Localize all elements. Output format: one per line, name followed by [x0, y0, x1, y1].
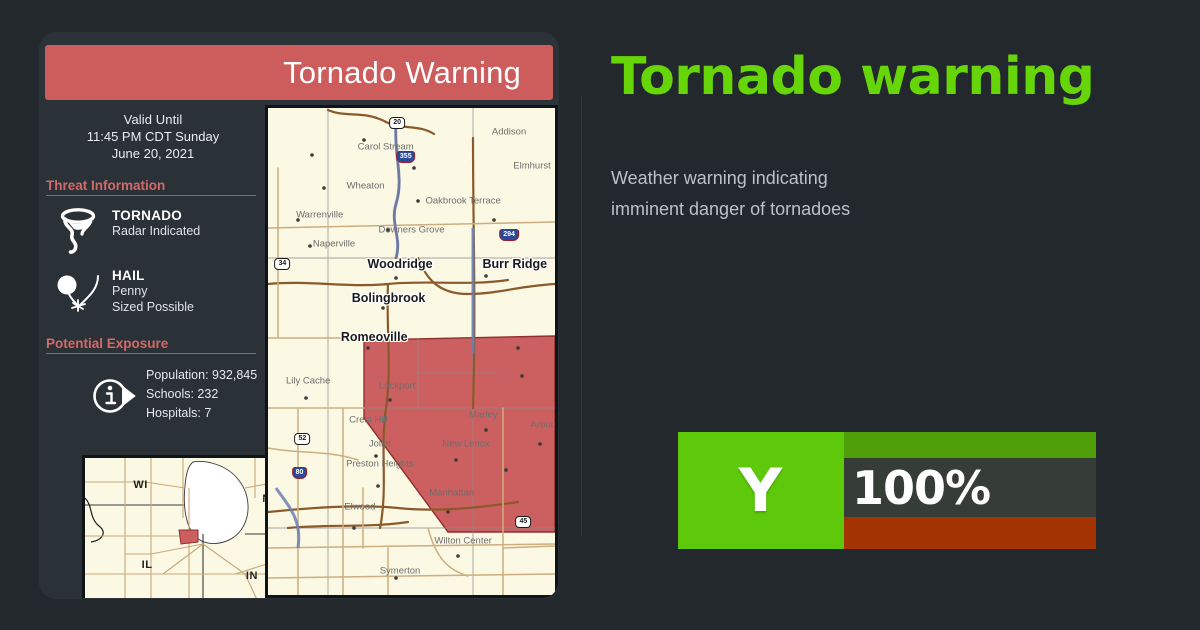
- threat-row-hail: HAIL Penny Sized Possible: [40, 264, 266, 316]
- card-body: Valid Until 11:45 PM CDT Sunday June 20,…: [40, 105, 558, 598]
- card-header: Tornado Warning: [45, 45, 553, 100]
- badge-bars: 100%: [844, 432, 1096, 549]
- hail-icon: [50, 264, 106, 318]
- route-shield-icon: 355: [396, 151, 416, 163]
- map-place-label: Addison: [492, 127, 526, 138]
- map-place-label: Arbury H: [531, 419, 555, 430]
- map-place-label: Wheaton: [347, 180, 385, 191]
- map-place-label: Preston Heights: [346, 458, 414, 469]
- threat-title-hail: HAIL: [112, 268, 266, 283]
- screenshot-root: Tornado Warning Valid Until 11:45 PM CDT…: [0, 0, 1200, 630]
- exposure-population: Population: 932,845: [146, 366, 266, 385]
- page-title: Tornado warning: [611, 48, 1171, 106]
- threat-detail-hail-line2: Sized Possible: [112, 300, 266, 315]
- threat-detail-tornado: Radar Indicated: [112, 224, 266, 239]
- route-shield-icon: 20: [389, 117, 405, 129]
- map-place-label: Symerton: [380, 565, 421, 576]
- inset-state-label-wi: WI: [133, 479, 147, 491]
- map-place-label: Burr Ridge: [483, 257, 548, 271]
- threat-text-hail: HAIL Penny Sized Possible: [112, 264, 266, 315]
- card-header-title: Tornado Warning: [283, 55, 553, 91]
- exposure-text: Population: 932,845 Schools: 232 Hospita…: [146, 364, 266, 423]
- panel-divider: [581, 96, 582, 536]
- description-line-1: Weather warning indicating: [611, 163, 1131, 194]
- exposure-schools: Schools: 232: [146, 385, 266, 404]
- badge-letter-block: Y: [678, 432, 844, 549]
- valid-until-time: 11:45 PM CDT Sunday: [40, 128, 266, 145]
- map-place-label: Warrenville: [296, 210, 343, 221]
- score-badge: Y 100%: [678, 432, 1096, 549]
- map-place-label: Naperville: [313, 239, 355, 250]
- tornado-icon: [50, 204, 106, 258]
- valid-until-block: Valid Until 11:45 PM CDT Sunday June 20,…: [40, 105, 266, 162]
- info-bubble-icon: [88, 370, 140, 422]
- map-place-label: Joliet: [369, 439, 391, 450]
- badge-bar-top: [844, 432, 1096, 458]
- page-description: Weather warning indicating imminent dang…: [611, 163, 1131, 225]
- inset-state-label-il: IL: [142, 559, 153, 571]
- main-map[interactable]: Carol Stream Addison Elmw Elmhurst Wheat…: [268, 108, 555, 595]
- map-place-label: Romeoville: [341, 330, 408, 344]
- potential-exposure-heading: Potential Exposure: [46, 336, 256, 354]
- map-place-label: New Lenox: [442, 439, 490, 450]
- valid-until-date: June 20, 2021: [40, 145, 266, 162]
- map-place-label: Lockport: [379, 380, 415, 391]
- map-place-label: Woodridge: [367, 257, 432, 271]
- description-line-2: imminent danger of tornadoes: [611, 194, 1131, 225]
- main-map-frame[interactable]: Carol Stream Addison Elmw Elmhurst Wheat…: [265, 105, 558, 598]
- map-place-label: Elwood: [344, 502, 375, 513]
- route-shield-icon: 52: [295, 433, 311, 445]
- threat-detail-hail-line1: Penny: [112, 284, 266, 299]
- map-place-label: Wilton Center: [434, 536, 492, 547]
- badge-percent: 100%: [844, 461, 990, 515]
- tornado-warning-card: Tornado Warning Valid Until 11:45 PM CDT…: [40, 33, 558, 598]
- map-place-label: Marley: [469, 409, 498, 420]
- badge-bar-bottom: [844, 517, 1096, 549]
- threat-text-tornado: TORNADO Radar Indicated: [112, 204, 266, 239]
- threat-information-heading: Threat Information: [46, 178, 256, 196]
- exposure-hospitals: Hospitals: 7: [146, 404, 266, 423]
- valid-until-label: Valid Until: [40, 111, 266, 128]
- route-shield-icon: 80: [292, 467, 308, 479]
- exposure-row: Population: 932,845 Schools: 232 Hospita…: [40, 364, 266, 426]
- badge-bar-middle: 100%: [844, 458, 1096, 517]
- threat-row-tornado: TORNADO Radar Indicated: [40, 204, 266, 256]
- route-shield-icon: 294: [499, 229, 519, 241]
- map-place-label: Elmhurst: [513, 161, 550, 172]
- route-shield-icon: 45: [516, 516, 532, 528]
- map-place-label: Oakbrook Terrace: [425, 195, 500, 206]
- badge-letter: Y: [739, 456, 783, 526]
- inset-state-label-in: IN: [246, 570, 258, 582]
- threat-title-tornado: TORNADO: [112, 208, 266, 223]
- map-place-label: Lily Cache: [286, 375, 330, 386]
- map-place-label: Crest Hill: [349, 414, 388, 425]
- map-place-label: Manhattan: [429, 487, 474, 498]
- map-place-label: Downers Grove: [379, 224, 445, 235]
- map-place-label: Bolingbrook: [352, 291, 426, 305]
- route-shield-icon: 34: [274, 258, 290, 270]
